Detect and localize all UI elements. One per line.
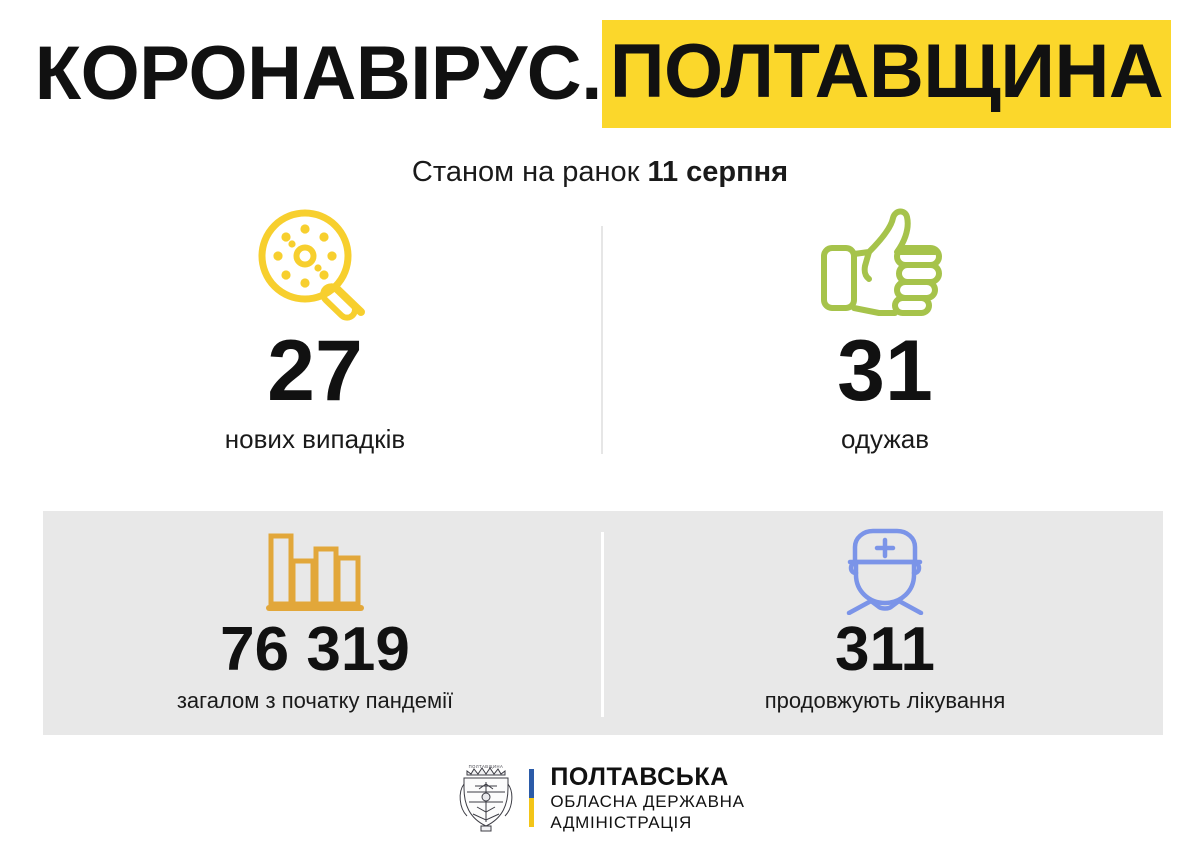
stat-label-total: загалом з початку пандемії bbox=[35, 687, 595, 715]
stat-card-recovered: 31 одужав bbox=[605, 205, 1165, 455]
poltava-coat-of-arms-icon: ПОЛТАВЩИНА bbox=[455, 762, 517, 834]
stat-value-total: 76 319 bbox=[35, 615, 595, 685]
stat-card-total: 76 319 загалом з початку пандемії bbox=[35, 520, 595, 715]
stat-label-new-cases: нових випадків bbox=[35, 423, 595, 455]
stat-value-recovered: 31 bbox=[605, 323, 1165, 419]
magnifier-virus-icon bbox=[251, 205, 379, 323]
ukraine-flag-bar-icon bbox=[529, 769, 534, 827]
stat-card-under-treatment: 311 продовжують лікування bbox=[605, 520, 1165, 715]
stat-value-under-treatment: 311 bbox=[605, 615, 1165, 685]
vertical-divider-bottom bbox=[601, 532, 604, 717]
bar-chart-icon bbox=[260, 527, 370, 615]
subtitle-prefix: Станом на ранок bbox=[412, 156, 648, 188]
page-title: КОРОНАВІРУС. ПОЛТАВЩИНА bbox=[0, 28, 1200, 120]
subtitle-date-line: Станом на ранок 11 серпня bbox=[0, 152, 1200, 192]
footer-text-block: ПОЛТАВСЬКА ОБЛАСНА ДЕРЖАВНА АДМІНІСТРАЦІ… bbox=[550, 764, 744, 833]
stat-card-new-cases: 27 нових випадків bbox=[35, 205, 595, 455]
thumbs-up-icon-wrap bbox=[605, 205, 1165, 323]
magnifier-virus-icon-wrap bbox=[35, 205, 595, 323]
thumbs-up-icon bbox=[817, 206, 953, 322]
stat-label-recovered: одужав bbox=[605, 423, 1165, 455]
crest-caption: ПОЛТАВЩИНА bbox=[469, 764, 504, 769]
title-highlighted-text: ПОЛТАВЩИНА bbox=[602, 20, 1171, 128]
title-plain-text: КОРОНАВІРУС. bbox=[29, 28, 602, 120]
footer-line-1: ПОЛТАВСЬКА bbox=[550, 764, 744, 791]
stat-label-under-treatment: продовжують лікування bbox=[605, 687, 1165, 715]
footer-line-3: АДМІНІСТРАЦІЯ bbox=[550, 812, 744, 833]
footer-line-2: ОБЛАСНА ДЕРЖАВНА bbox=[550, 791, 744, 812]
bar-chart-icon-wrap bbox=[35, 520, 595, 615]
doctor-icon bbox=[833, 527, 937, 615]
stat-value-new-cases: 27 bbox=[35, 323, 595, 419]
footer-logo: ПОЛТАВЩИНА ПОЛТАВСЬКА ОБЛАСНА ДЕРЖАВНА А… bbox=[0, 762, 1200, 834]
subtitle-date: 11 серпня bbox=[647, 156, 788, 188]
doctor-icon-wrap bbox=[605, 520, 1165, 615]
vertical-divider-top bbox=[601, 226, 603, 454]
